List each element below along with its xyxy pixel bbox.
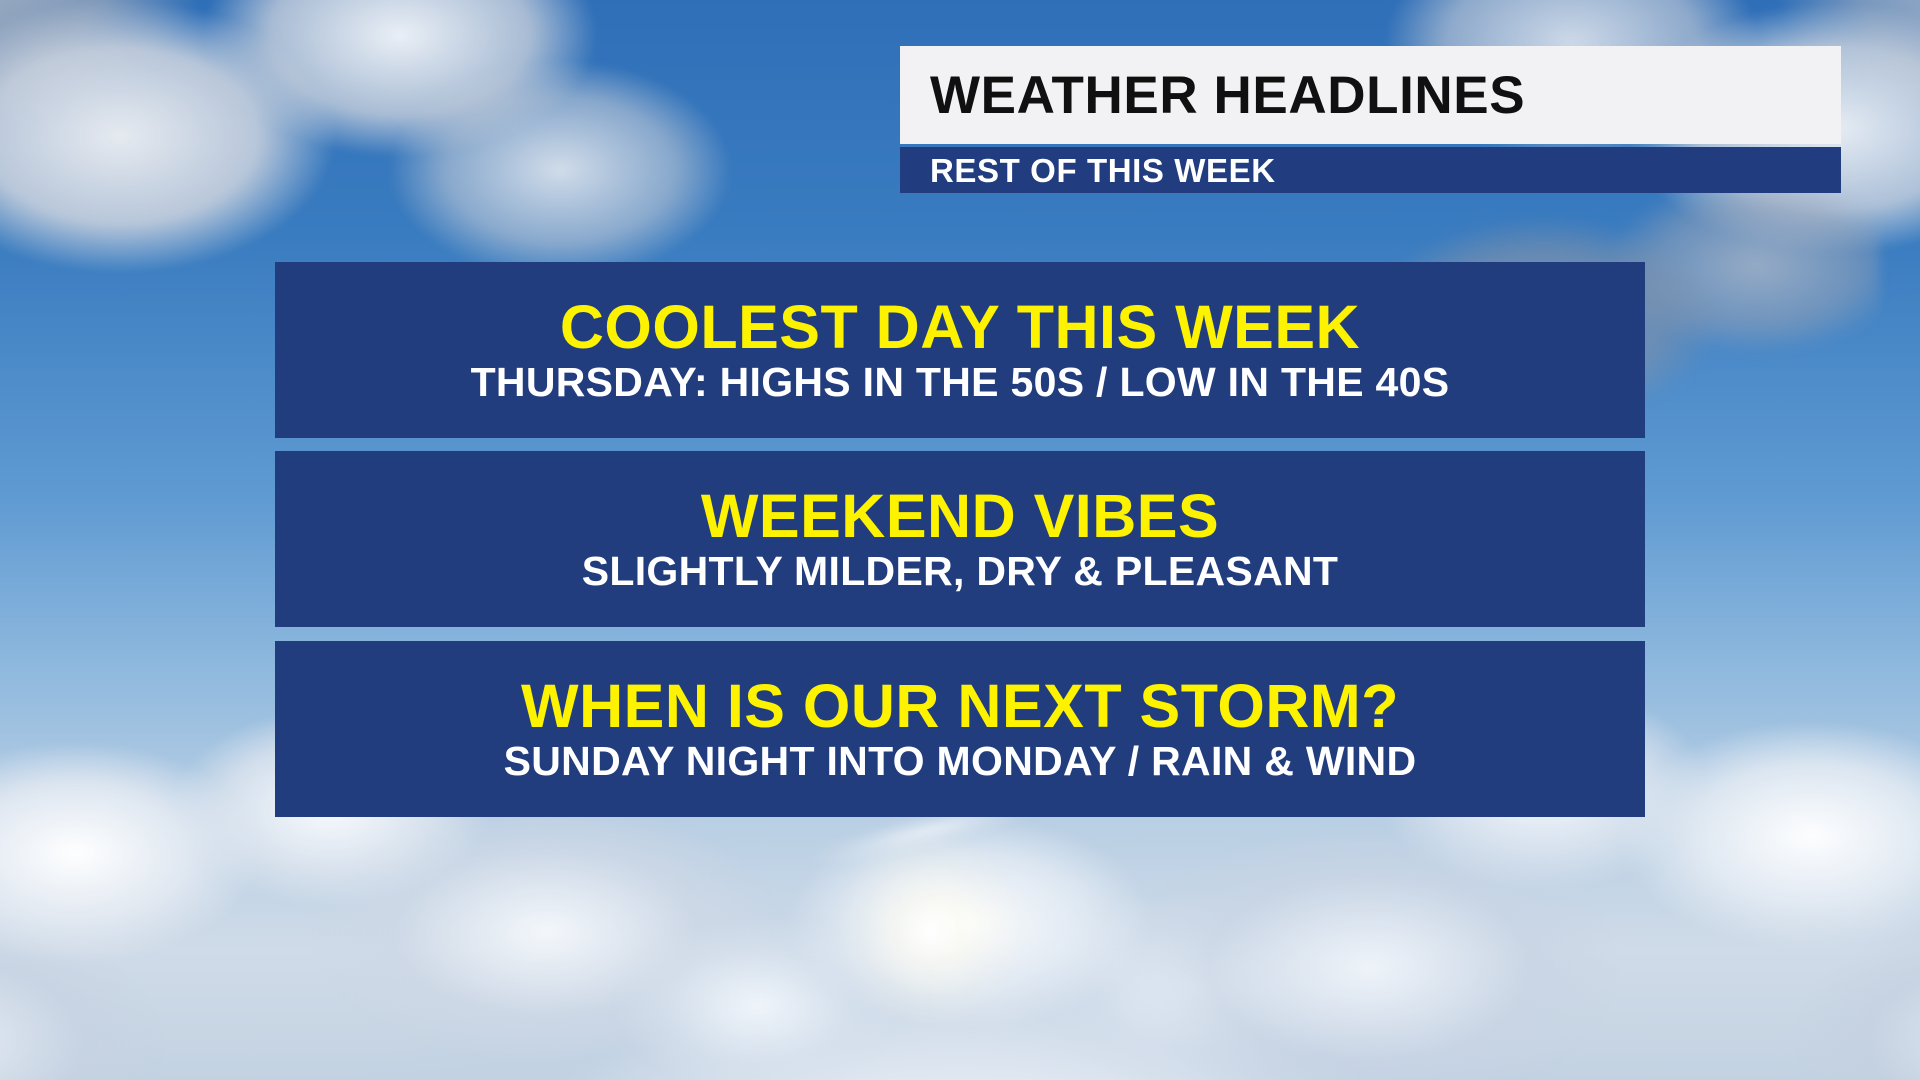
sun-lens-flare [830,830,1030,1030]
headline-1-title: COOLEST DAY THIS WEEK [560,296,1360,358]
headline-2-detail: SLIGHTLY MILDER, DRY & PLEASANT [582,551,1339,593]
headline-panel-3: WHEN IS OUR NEXT STORM? SUNDAY NIGHT INT… [275,641,1645,817]
headline-1-detail: THURSDAY: HIGHS IN THE 50S / LOW IN THE … [471,362,1450,404]
header-title-bar: WEATHER HEADLINES [900,46,1841,144]
headline-2-title: WEEKEND VIBES [701,485,1219,547]
headline-panel-list: COOLEST DAY THIS WEEK THURSDAY: HIGHS IN… [275,262,1645,817]
headline-panel-1: COOLEST DAY THIS WEEK THURSDAY: HIGHS IN… [275,262,1645,438]
header-subtitle-bar: REST OF THIS WEEK [900,147,1841,193]
weather-headlines-graphic: WEATHER HEADLINES REST OF THIS WEEK COOL… [0,0,1920,1080]
headline-3-detail: SUNDAY NIGHT INTO MONDAY / RAIN & WIND [504,741,1417,783]
page-subtitle: REST OF THIS WEEK [930,154,1276,187]
headline-panel-2: WEEKEND VIBES SLIGHTLY MILDER, DRY & PLE… [275,451,1645,627]
page-title: WEATHER HEADLINES [930,69,1525,122]
headline-3-title: WHEN IS OUR NEXT STORM? [521,675,1399,737]
